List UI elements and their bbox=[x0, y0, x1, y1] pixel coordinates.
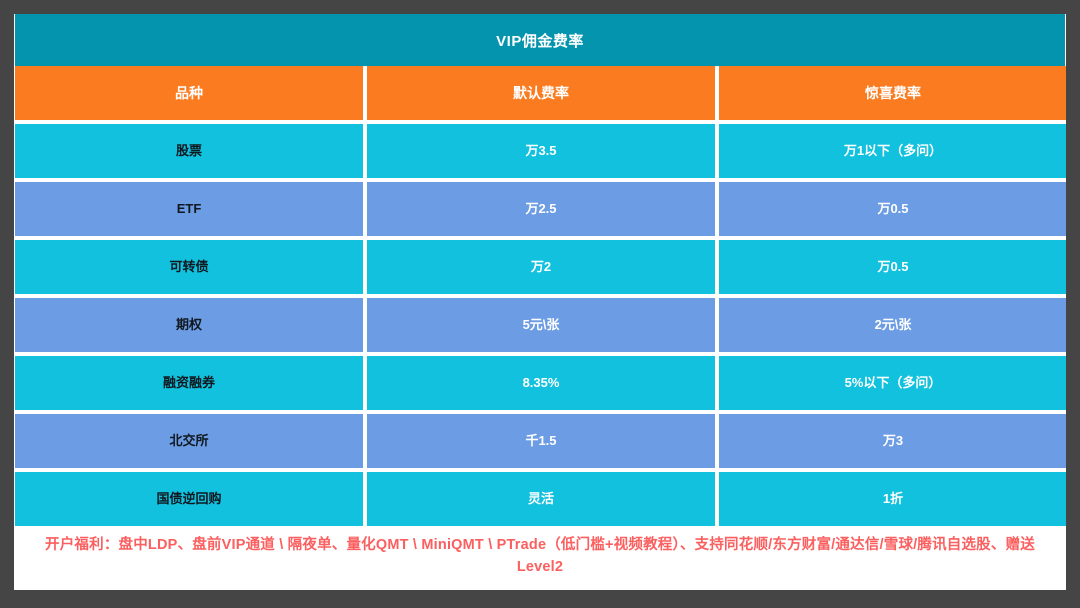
cell-default-rate: 万2 bbox=[367, 240, 715, 294]
table-row: 可转债 万2 万0.5 bbox=[15, 240, 1065, 294]
page-title: VIP佣金费率 bbox=[496, 30, 584, 51]
cell-surprise-rate: 2元\张 bbox=[719, 298, 1066, 352]
cell-variety: 可转债 bbox=[15, 240, 363, 294]
cell-variety: 融资融券 bbox=[15, 356, 363, 410]
cell-surprise-rate: 万0.5 bbox=[719, 240, 1066, 294]
cell-surprise-rate: 5%以下（多问） bbox=[719, 356, 1066, 410]
column-header-default-rate: 默认费率 bbox=[367, 66, 715, 120]
table-row: 股票 万3.5 万1以下（多问） bbox=[15, 124, 1065, 178]
cell-surprise-rate: 万0.5 bbox=[719, 182, 1066, 236]
cell-default-rate: 千1.5 bbox=[367, 414, 715, 468]
cell-default-rate: 5元\张 bbox=[367, 298, 715, 352]
cell-surprise-rate: 1折 bbox=[719, 472, 1066, 526]
cell-default-rate: 灵活 bbox=[367, 472, 715, 526]
cell-variety: 期权 bbox=[15, 298, 363, 352]
cell-variety: 股票 bbox=[15, 124, 363, 178]
cell-default-rate: 万3.5 bbox=[367, 124, 715, 178]
column-header-variety: 品种 bbox=[15, 66, 363, 120]
page-root: VIP佣金费率 品种 默认费率 惊喜费率 股票 万3.5 万1以下（多问） ET… bbox=[0, 0, 1080, 608]
table-row: 期权 5元\张 2元\张 bbox=[15, 298, 1065, 352]
cell-variety: 国债逆回购 bbox=[15, 472, 363, 526]
column-header-surprise-rate: 惊喜费率 bbox=[719, 66, 1066, 120]
cell-default-rate: 8.35% bbox=[367, 356, 715, 410]
rate-table-card: VIP佣金费率 品种 默认费率 惊喜费率 股票 万3.5 万1以下（多问） ET… bbox=[14, 14, 1066, 590]
cell-surprise-rate: 万3 bbox=[719, 414, 1066, 468]
table-title-bar: VIP佣金费率 bbox=[15, 14, 1065, 66]
promo-note: 开户福利：盘中LDP、盘前VIP通道 \ 隔夜单、量化QMT \ MiniQMT… bbox=[32, 534, 1048, 579]
cell-surprise-rate: 万1以下（多问） bbox=[719, 124, 1066, 178]
table-header-row: 品种 默认费率 惊喜费率 bbox=[15, 66, 1065, 120]
cell-default-rate: 万2.5 bbox=[367, 182, 715, 236]
table-row: 北交所 千1.5 万3 bbox=[15, 414, 1065, 468]
table-row: ETF 万2.5 万0.5 bbox=[15, 182, 1065, 236]
table-row: 融资融券 8.35% 5%以下（多问） bbox=[15, 356, 1065, 410]
table-row: 国债逆回购 灵活 1折 bbox=[15, 472, 1065, 526]
cell-variety: 北交所 bbox=[15, 414, 363, 468]
cell-variety: ETF bbox=[15, 182, 363, 236]
